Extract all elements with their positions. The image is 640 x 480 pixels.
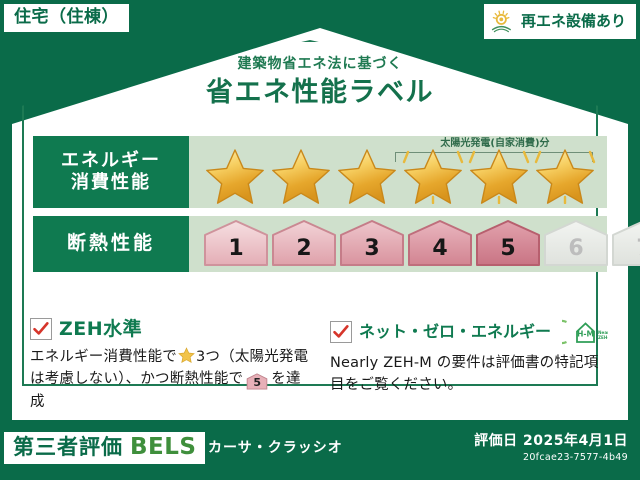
zeh-text-part1: エネルギー消費性能で (30, 349, 177, 365)
zeh-text-part3: は考慮しない）、かつ断熱性能で (30, 371, 243, 387)
zeh-m-house-logo: H-M Nearly ZEH-M (562, 318, 608, 346)
insulation-grade-6: 6 (543, 219, 609, 267)
evaluation-date: 評価日 2025年4月1日 (474, 432, 628, 450)
certification-checks: ZEH水準 エネルギー消費性能で3つ（太陽光発電は考慮しない）、かつ断熱性能で5… (30, 318, 610, 413)
insulation-label-text: 断熱性能 (67, 232, 155, 256)
net-zero-title: ネット・ゼロ・エネルギー (359, 324, 551, 340)
bels-jp-label: 第三者評価 (13, 437, 123, 458)
building-type-tag: 住宅（住棟） (4, 4, 129, 32)
svg-text:H-M: H-M (577, 329, 594, 338)
net-zero-description: Nearly ZEH-M の要件は評価書の特記項目をご覧ください。 (330, 352, 610, 397)
zeh-standard-head: ZEH水準 (30, 318, 310, 340)
page-title: 建築物省エネ法に基づく 省エネ性能ラベル (0, 56, 640, 108)
insulation-grade-value: 6 (568, 238, 583, 267)
renewable-tag-label: 再エネ設備あり (521, 14, 626, 29)
insulation-grade-7: 7 (611, 219, 640, 267)
inline-grade-badge: 5 (245, 373, 269, 390)
title-subtitle: 建築物省エネ法に基づく (0, 56, 640, 73)
check-icon (32, 320, 50, 338)
insulation-grade-value: 1 (228, 238, 243, 267)
net-zero-energy-block: ネット・ゼロ・エネルギー H-M Nearly ZEH-M Nearly ZEH… (330, 318, 610, 413)
sun-solar-icon (490, 8, 516, 34)
net-zero-checkbox[interactable] (330, 321, 352, 343)
bels-en-label: BELS (130, 436, 196, 459)
zeh-standard-block: ZEH水準 エネルギー消費性能で3つ（太陽光発電は考慮しない）、かつ断熱性能で5… (30, 318, 310, 413)
svg-text:ZEH-M: ZEH-M (598, 335, 608, 340)
evaluation-info: 評価日 2025年4月1日 20fcae23-7577-4b49 (474, 432, 628, 465)
zeh-standard-description: エネルギー消費性能で3つ（太陽光発電は考慮しない）、かつ断熱性能で5を達成 (30, 346, 310, 413)
energy-performance-label: エネルギー 消費性能 (33, 136, 189, 208)
check-icon (332, 323, 350, 341)
star-icon (467, 142, 531, 204)
insulation-grade-value: 5 (500, 238, 515, 267)
energy-performance-body: 太陽光発電(自家消費)分 (189, 136, 607, 208)
energy-label-line2: 消費性能 (71, 172, 151, 195)
energy-performance-row: エネルギー 消費性能 太陽光発電(自家消費)分 (33, 136, 607, 208)
star-icon (335, 142, 399, 204)
star-icon (178, 347, 195, 364)
insulation-grade-4: 4 (407, 219, 473, 267)
net-zero-head: ネット・ゼロ・エネルギー H-M Nearly ZEH-M (330, 318, 610, 346)
insulation-grade-value: 7 (636, 238, 640, 267)
insulation-grade-value: 4 (432, 238, 447, 267)
zeh-standard-checkbox[interactable] (30, 318, 52, 340)
bels-tag: 第三者評価 BELS (4, 432, 205, 464)
zeh-text-part2: 3つ（太陽光発電 (196, 349, 308, 365)
insulation-performance-body: 1234567 (189, 216, 607, 272)
energy-label-line1: エネルギー (61, 150, 161, 173)
star-icon (401, 142, 465, 204)
insulation-grade-3: 3 (339, 219, 405, 267)
insulation-performance-label: 断熱性能 (33, 216, 189, 272)
insulation-grade-5: 5 (475, 219, 541, 267)
energy-performance-label: 住宅（住棟） 再エネ設備あり 建築物省エネ法に基づく 省エネ性能ラベル (0, 0, 640, 480)
star-icon (533, 142, 597, 204)
metrics-section: エネルギー 消費性能 太陽光発電(自家消費)分 断熱性能 1234567 (33, 136, 607, 272)
footer: 第三者評価 BELS カーサ・クラッシオ 評価日 2025年4月1日 20fca… (0, 424, 640, 480)
insulation-grade-scale: 1234567 (203, 219, 640, 267)
insulation-grade-2: 2 (271, 219, 337, 267)
insulation-grade-1: 1 (203, 219, 269, 267)
insulation-performance-row: 断熱性能 1234567 (33, 216, 607, 272)
renewable-equipment-tag: 再エネ設備あり (484, 4, 636, 39)
star-icon (203, 142, 267, 204)
insulation-grade-value: 2 (296, 238, 311, 267)
building-name: カーサ・クラッシオ (208, 441, 343, 455)
evaluation-id: 20fcae23-7577-4b49 (474, 452, 628, 464)
star-rating (203, 142, 597, 204)
zeh-standard-title: ZEH水準 (59, 320, 142, 339)
insulation-grade-value: 3 (364, 238, 379, 267)
star-icon (269, 142, 333, 204)
inline-grade-value: 5 (245, 373, 269, 392)
title-main: 省エネ性能ラベル (0, 77, 640, 108)
